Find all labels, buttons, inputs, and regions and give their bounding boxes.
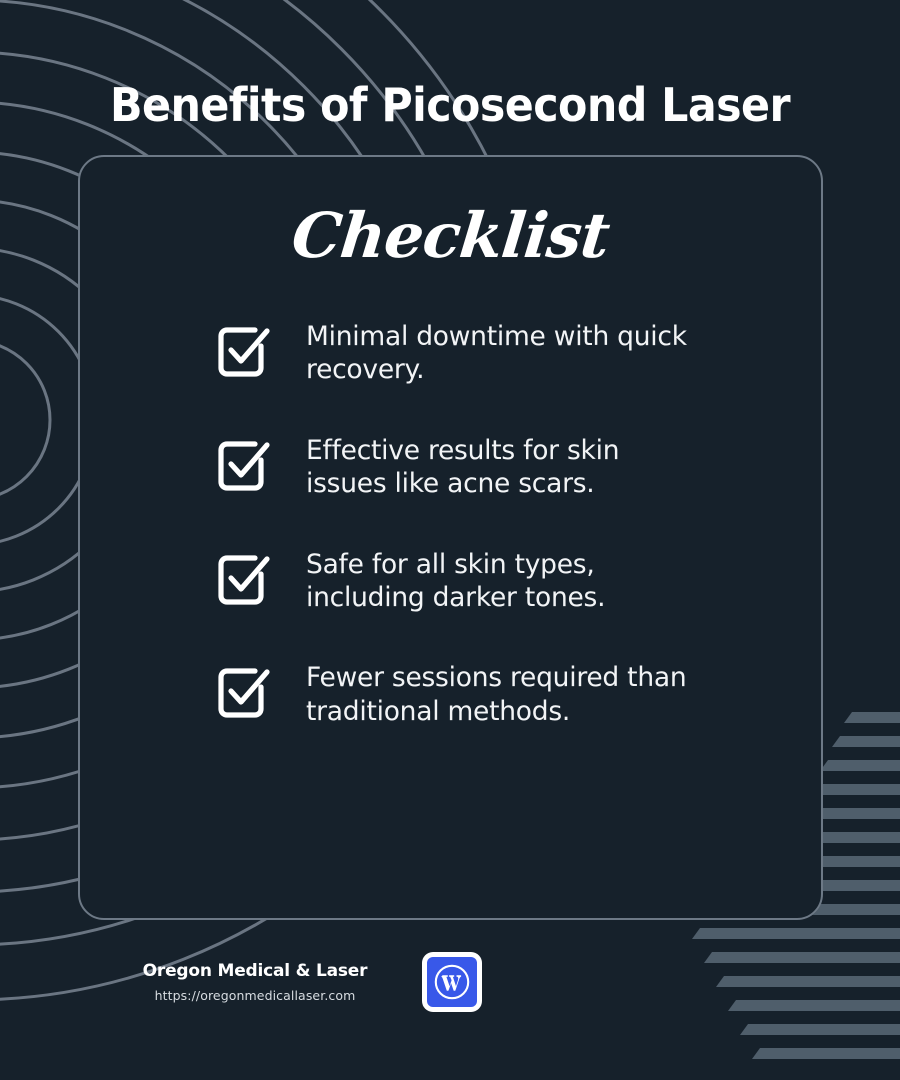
list-item: Fewer sessions required than traditional…: [216, 661, 776, 728]
checkbox-checked-icon: [216, 663, 274, 721]
list-item: Safe for all skin types, including darke…: [216, 548, 776, 615]
checkbox-checked-icon: [216, 550, 274, 608]
footer: Oregon Medical & Laser https://oregonmed…: [110, 952, 510, 1012]
brand-name: Oregon Medical & Laser: [110, 961, 400, 981]
list-item-label: Effective results for skin issues like a…: [306, 434, 706, 501]
brand-url[interactable]: https://oregonmedicallaser.com: [110, 988, 400, 1003]
card-heading: Checklist: [76, 199, 825, 272]
checklist-card: Checklist Minimal downtime with quick re…: [78, 155, 823, 920]
list-item: Minimal downtime with quick recovery.: [216, 320, 776, 387]
list-item: Effective results for skin issues like a…: [216, 434, 776, 501]
checkbox-checked-icon: [216, 322, 274, 380]
wordpress-icon: [427, 957, 477, 1007]
list-item-label: Minimal downtime with quick recovery.: [306, 320, 706, 387]
list-item-label: Fewer sessions required than traditional…: [306, 661, 706, 728]
wordpress-badge[interactable]: [422, 952, 482, 1012]
footer-text-group: Oregon Medical & Laser https://oregonmed…: [110, 961, 400, 1003]
page-title: Benefits of Picosecond Laser: [32, 78, 869, 132]
poster-canvas: Benefits of Picosecond Laser Checklist M…: [0, 0, 900, 1080]
list-item-label: Safe for all skin types, including darke…: [306, 548, 706, 615]
checklist: Minimal downtime with quick recovery. Ef…: [216, 320, 776, 728]
checkbox-checked-icon: [216, 436, 274, 494]
